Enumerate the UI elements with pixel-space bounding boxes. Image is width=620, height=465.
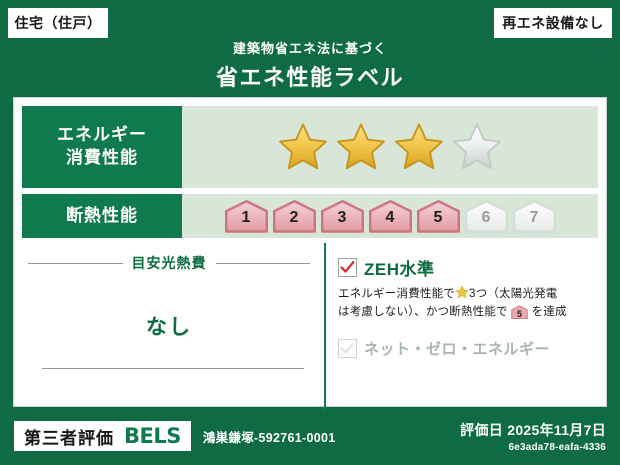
document-id: 6e3ada78-eafa-4336 — [460, 442, 606, 453]
insulation-level-active: 4 — [368, 199, 413, 233]
insulation-performance-row: 断熱性能 1234567 — [22, 194, 598, 238]
insulation-level-value: 6 — [482, 210, 491, 233]
insulation-level-scale: 1234567 — [182, 194, 598, 238]
insulation-level-value: 3 — [338, 210, 347, 233]
evaluation-date: 評価日 2025年11月7日 — [460, 420, 606, 440]
insulation-level-value: 2 — [290, 210, 299, 233]
lower-section: 目安光熱費 なし ZEH水準 エネルギー消費性能で — [14, 243, 606, 411]
zeh-standard-row: ZEH水準 — [338, 255, 602, 280]
energy-performance-row: エネルギー消費性能 — [22, 106, 598, 188]
housing-type-badge: 住宅（住戸） — [8, 8, 108, 38]
label-footer: 第三者評価 BELS 鴻巣鎌塚-592761-0001 評価日 2025年11月… — [0, 407, 620, 465]
insulation-level-active: 5 — [416, 199, 461, 233]
zeh-title: ZEH水準 — [364, 255, 435, 280]
zeh-desc-part1: エネルギー消費性能で — [338, 288, 455, 300]
energy-cost-heading-text: 目安光熱費 — [132, 253, 207, 273]
net-zero-checkbox — [338, 339, 357, 358]
star-filled-icon — [276, 121, 330, 173]
insulation-level-inactive: 6 — [464, 199, 509, 233]
bels-logo: BELS — [124, 424, 181, 448]
bels-plate: 第三者評価 BELS — [14, 421, 191, 451]
zeh-pane: ZEH水準 エネルギー消費性能で 3つ（太陽光発電 は考慮しない）、かつ断熱性能… — [324, 243, 606, 411]
star-rating — [182, 106, 598, 188]
cost-bottom-rule — [42, 368, 304, 369]
insulation-level-active: 2 — [272, 199, 317, 233]
title-subtitle: 建築物省エネ法に基づく — [0, 38, 620, 57]
rule-right — [216, 263, 311, 264]
label-title-block: 建築物省エネ法に基づく 省エネ性能ラベル — [0, 38, 620, 92]
bels-energy-label: 住宅（住戸） 再エネ設備なし 建築物省エネ法に基づく 省エネ性能ラベル エネルギ… — [0, 0, 620, 465]
insulation-level-value: 4 — [386, 210, 395, 233]
zeh-desc-part3: は考慮しない）、かつ断熱性能で — [338, 306, 508, 318]
label-body-card: エネルギー消費性能 断熱性能 1234567 目安光熱費 なし — [13, 97, 607, 407]
insulation-level-value: 1 — [242, 210, 251, 233]
net-zero-energy-label: ネット・ゼロ・エネルギー — [364, 338, 550, 359]
insulation-level-active: 1 — [224, 199, 269, 233]
zeh-desc-part2: 3つ（太陽光発電 — [469, 288, 558, 300]
net-zero-energy-row: ネット・ゼロ・エネルギー — [338, 338, 602, 359]
page-title: 省エネ性能ラベル — [0, 60, 620, 92]
insulation-level-value: 5 — [434, 210, 443, 233]
star-filled-icon — [392, 121, 446, 173]
energy-performance-label: エネルギー消費性能 — [22, 106, 182, 188]
energy-cost-pane: 目安光熱費 なし — [14, 243, 324, 411]
insulation-performance-label: 断熱性能 — [22, 194, 182, 238]
energy-cost-value: なし — [14, 311, 324, 341]
renewable-equipment-badge: 再エネ設備なし — [494, 8, 612, 38]
rule-left — [28, 263, 123, 264]
insulation-level-active: 3 — [320, 199, 365, 233]
insulation-level-value: 7 — [530, 210, 539, 233]
zeh-desc-part4: を達成 — [532, 306, 567, 318]
energy-cost-heading: 目安光熱費 — [14, 253, 324, 273]
inline-star-icon — [455, 285, 469, 299]
inline-badge-value: 5 — [511, 305, 528, 324]
zeh-checkbox — [338, 258, 357, 277]
inline-insulation-badge: 5 — [511, 305, 528, 319]
star-empty-icon — [450, 121, 504, 173]
star-filled-icon — [334, 121, 388, 173]
bels-code: 鴻巣鎌塚-592761-0001 — [203, 427, 336, 446]
zeh-description: エネルギー消費性能で 3つ（太陽光発電 は考慮しない）、かつ断熱性能で 5 を達… — [338, 285, 602, 322]
footer-right-block: 評価日 2025年11月7日 6e3ada78-eafa-4336 — [460, 420, 606, 453]
insulation-level-inactive: 7 — [512, 199, 557, 233]
third-party-evaluation-label: 第三者評価 — [24, 424, 114, 449]
